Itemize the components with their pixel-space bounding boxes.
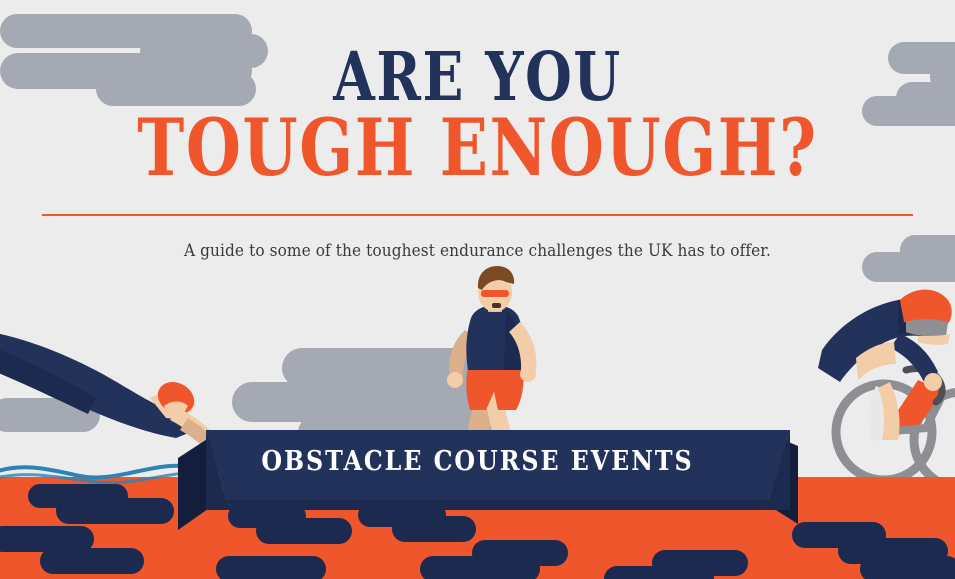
title-block: ARE YOU TOUGH ENOUGH?: [0, 46, 955, 185]
infographic-header: ARE YOU TOUGH ENOUGH? A guide to some of…: [0, 0, 955, 579]
banner-bevel: [226, 500, 770, 510]
section-banner-label: OBSTACLE COURSE EVENTS: [57, 446, 897, 477]
title-underline-rule: [42, 214, 913, 216]
page-title-line-2: TOUGH ENOUGH?: [96, 110, 860, 185]
page-subtitle: A guide to some of the toughest enduranc…: [33, 241, 921, 260]
page-title-line-1: ARE YOU: [96, 46, 860, 108]
